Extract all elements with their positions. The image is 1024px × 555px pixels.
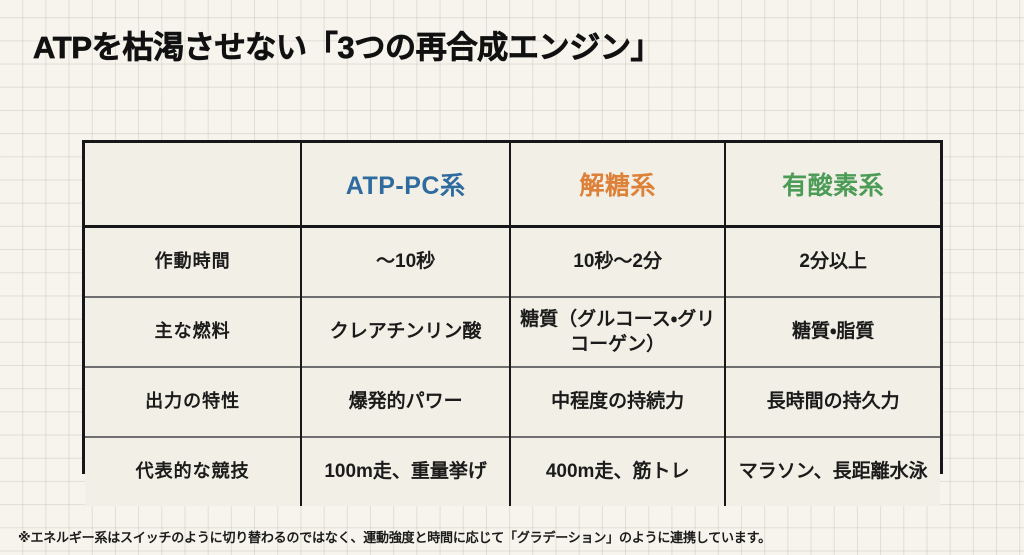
- cell-fuel-glycolytic: 糖質（グルコース・グリコーゲン）: [510, 297, 725, 367]
- cell-output-glycolytic: 中程度の持続力: [510, 367, 725, 437]
- table-header-row: ATP-PC系 解糖系 有酸素系: [85, 143, 940, 227]
- header-cell-aerobic: 有酸素系: [725, 143, 940, 227]
- cell-sports-aerobic: マラソン、長距離水泳: [725, 437, 940, 506]
- header-cell-blank: [85, 143, 301, 227]
- row-label-fuel: 主な燃料: [85, 297, 301, 367]
- slide-canvas: ATPを枯渇させない「3つの再合成エンジン」 ATP-PC系 解糖系 有酸素系 …: [0, 0, 1024, 555]
- cell-sports-glycolytic: 400m走、筋トレ: [510, 437, 725, 506]
- cell-duration-glycolytic: 10秒～2分: [510, 227, 725, 298]
- cell-duration-aerobic: 2分以上: [725, 227, 940, 298]
- table-row: 出力の特性 爆発的パワー 中程度の持続力 長時間の持久力: [85, 367, 940, 437]
- table-row: 主な燃料 クレアチンリン酸 糖質（グルコース・グリコーゲン） 糖質・脂質: [85, 297, 940, 367]
- cell-fuel-aerobic: 糖質・脂質: [725, 297, 940, 367]
- table-row: 代表的な競技 100m走、重量挙げ 400m走、筋トレ マラソン、長距離水泳: [85, 437, 940, 506]
- row-label-sports: 代表的な競技: [85, 437, 301, 506]
- page-title: ATPを枯渇させない「3つの再合成エンジン」: [33, 22, 661, 67]
- footnote-text: ※エネルギー系はスイッチのように切り替わるのではなく、運動強度と時間に応じて「グ…: [18, 527, 771, 546]
- cell-duration-atp-pc: ～10秒: [301, 227, 510, 298]
- energy-systems-table: ATP-PC系 解糖系 有酸素系 作動時間 ～10秒 10秒～2分 2分以上 主…: [82, 140, 943, 474]
- cell-fuel-atp-pc: クレアチンリン酸: [301, 297, 510, 367]
- cell-output-atp-pc: 爆発的パワー: [301, 367, 510, 437]
- table-row: 作動時間 ～10秒 10秒～2分 2分以上: [85, 227, 940, 298]
- cell-output-aerobic: 長時間の持久力: [725, 367, 940, 437]
- comparison-table: ATP-PC系 解糖系 有酸素系 作動時間 ～10秒 10秒～2分 2分以上 主…: [85, 143, 940, 506]
- header-cell-glycolytic: 解糖系: [510, 143, 725, 227]
- cell-sports-atp-pc: 100m走、重量挙げ: [301, 437, 510, 506]
- row-label-duration: 作動時間: [85, 227, 301, 298]
- table-body: 作動時間 ～10秒 10秒～2分 2分以上 主な燃料 クレアチンリン酸 糖質（グ…: [85, 227, 940, 507]
- header-cell-atp-pc: ATP-PC系: [301, 143, 510, 227]
- row-label-output: 出力の特性: [85, 367, 301, 437]
